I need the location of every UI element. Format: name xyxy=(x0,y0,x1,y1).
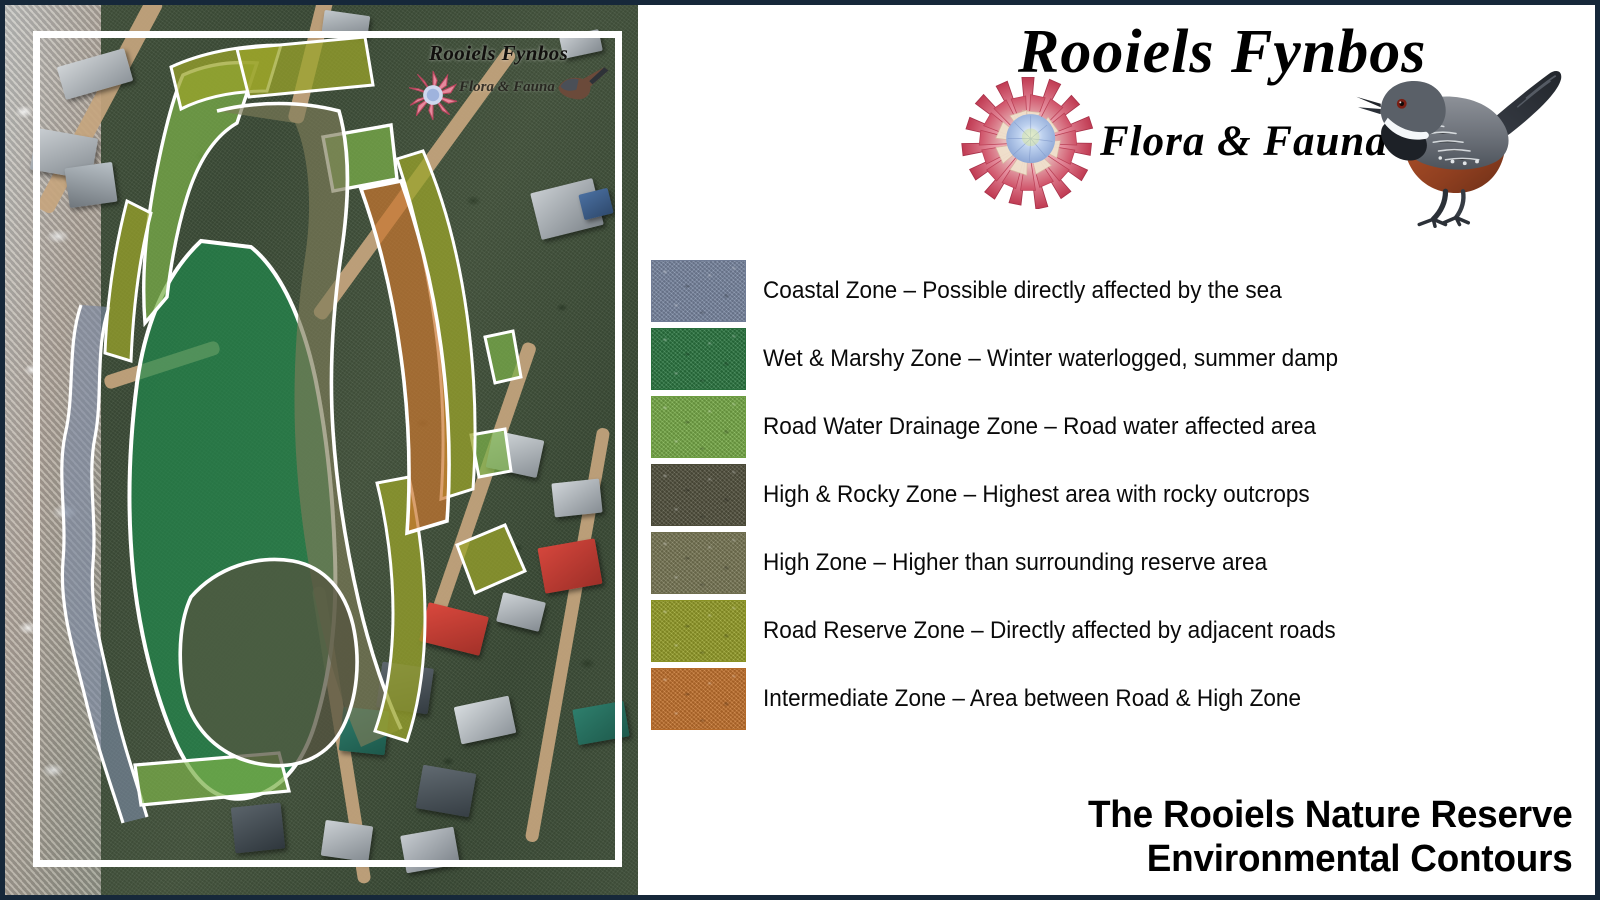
building-roof-green xyxy=(339,707,389,756)
swatch-texture xyxy=(652,533,745,593)
legend-item-high-zone[interactable]: High Zone – Higher than surrounding rese… xyxy=(651,529,1581,597)
map-panel[interactable]: Rooiels Fynbos Flora & Fauna xyxy=(5,5,638,895)
masthead: Rooiels Fynbos Flora & Fauna xyxy=(638,5,1595,237)
legend-label-road-reserve-zone: Road Reserve Zone – Directly affected by… xyxy=(763,617,1336,645)
zone-legend: Coastal Zone – Possible directly affecte… xyxy=(651,257,1581,733)
swatch-texture xyxy=(652,397,745,457)
legend-swatch-intermediate-zone xyxy=(651,668,746,730)
building-roof xyxy=(416,765,477,818)
legend-swatch-wet-marshy-zone xyxy=(651,328,746,390)
protea-flower-icon xyxy=(960,71,1096,209)
legend-label-wet-marshy-zone: Wet & Marshy Zone – Winter waterlogged, … xyxy=(763,345,1338,373)
cape-rockjumper-bird-icon xyxy=(1352,53,1567,228)
building-roof xyxy=(64,162,117,208)
legend-swatch-road-reserve-zone xyxy=(651,600,746,662)
swatch-texture xyxy=(652,601,745,661)
legend-item-high-rocky-zone[interactable]: High & Rocky Zone – Highest area with ro… xyxy=(651,461,1581,529)
building-roof xyxy=(321,820,374,862)
legend-item-coastal-zone[interactable]: Coastal Zone – Possible directly affecte… xyxy=(651,257,1581,325)
legend-item-road-reserve-zone[interactable]: Road Reserve Zone – Directly affected by… xyxy=(651,597,1581,665)
legend-swatch-coastal-zone xyxy=(651,260,746,322)
legend-swatch-high-rocky-zone xyxy=(651,464,746,526)
poster-caption: The Rooiels Nature Reserve Environmental… xyxy=(1073,794,1573,881)
legend-item-intermediate-zone[interactable]: Intermediate Zone – Area between Road & … xyxy=(651,665,1581,733)
legend-swatch-road-water-drainage-zone xyxy=(651,396,746,458)
page-subtitle: Flora & Fauna xyxy=(1100,117,1388,166)
legend-label-high-zone: High Zone – Higher than surrounding rese… xyxy=(763,549,1267,577)
poster-root: Rooiels Fynbos Flora & Fauna xyxy=(0,0,1600,900)
legend-label-coastal-zone: Coastal Zone – Possible directly affecte… xyxy=(763,277,1282,305)
content-panel: Rooiels Fynbos Flora & Fauna xyxy=(638,5,1595,895)
legend-label-intermediate-zone: Intermediate Zone – Area between Road & … xyxy=(763,685,1301,713)
swatch-texture xyxy=(652,669,745,729)
legend-label-road-water-drainage-zone: Road Water Drainage Zone – Road water af… xyxy=(763,413,1316,441)
building-roof xyxy=(231,803,286,854)
legend-item-road-water-drainage-zone[interactable]: Road Water Drainage Zone – Road water af… xyxy=(651,393,1581,461)
legend-label-high-rocky-zone: High & Rocky Zone – Highest area with ro… xyxy=(763,481,1310,509)
building-roof xyxy=(376,662,434,715)
legend-item-wet-marshy-zone[interactable]: Wet & Marshy Zone – Winter waterlogged, … xyxy=(651,325,1581,393)
building-roof xyxy=(551,479,602,518)
legend-swatch-high-zone xyxy=(651,532,746,594)
swatch-texture xyxy=(652,465,745,525)
swatch-texture xyxy=(652,261,745,321)
swatch-texture xyxy=(652,329,745,389)
caption-line-1: The Rooiels Nature Reserve xyxy=(1088,794,1573,837)
caption-line-2: Environmental Contours xyxy=(1088,838,1573,881)
